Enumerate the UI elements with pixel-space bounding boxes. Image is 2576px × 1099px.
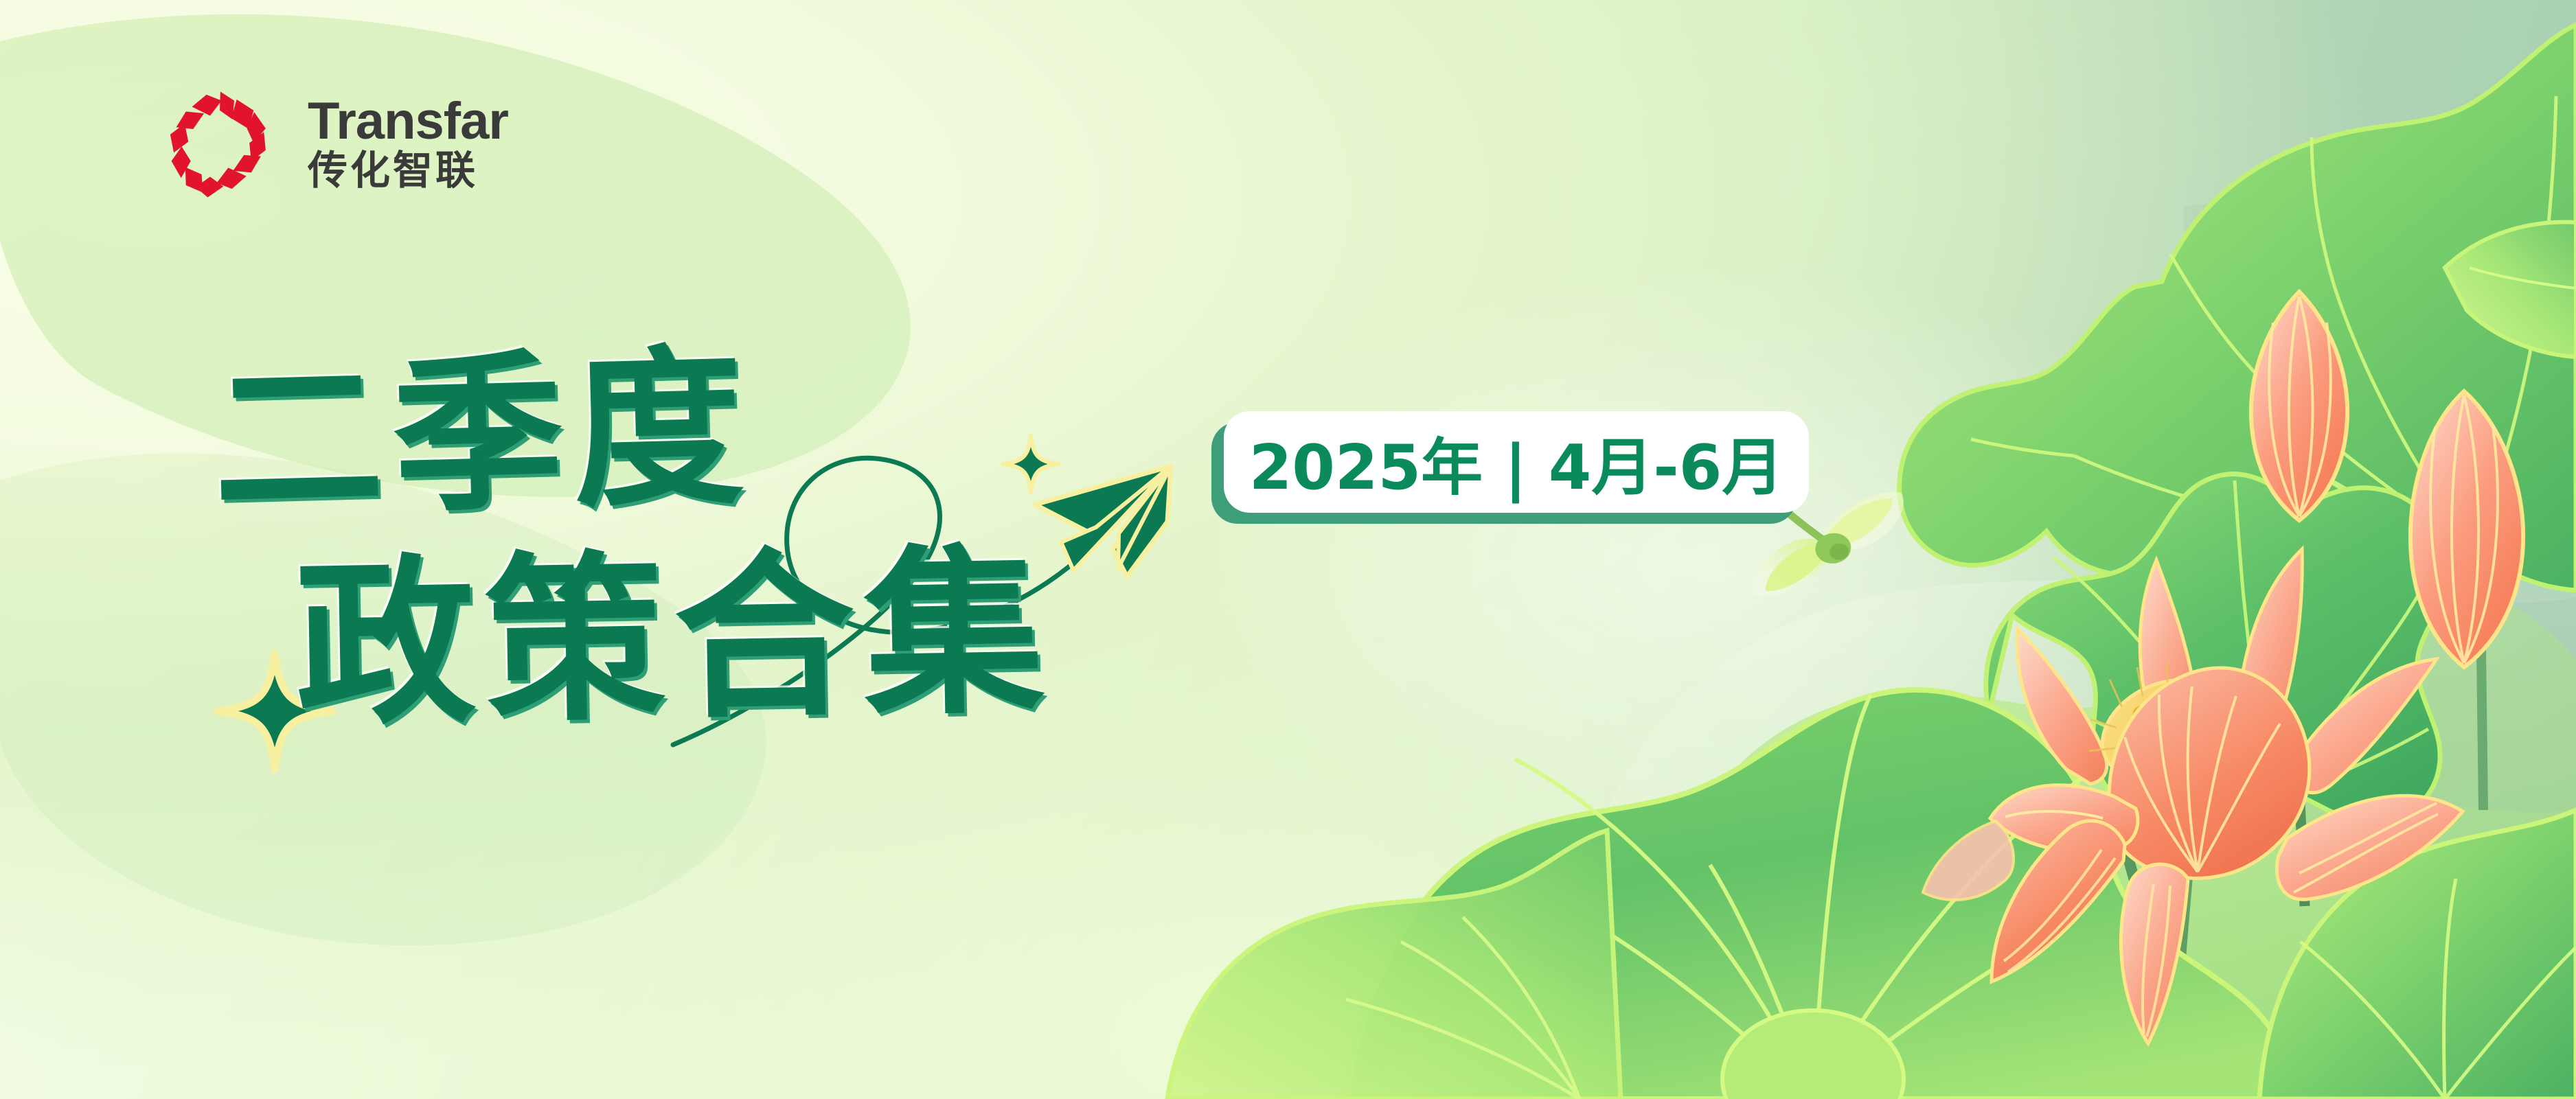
brand-name-cn: 传化智联 [308, 149, 508, 193]
brand-logo: Transfar 传化智联 [159, 84, 508, 205]
date-range-badge: 2025年 | 4月-6月 [1224, 411, 1809, 513]
date-badge-label: 2025年 | 4月-6月 [1249, 417, 1784, 507]
date-badge-face: 2025年 | 4月-6月 [1224, 411, 1809, 513]
promo-banner: Transfar 传化智联 二季度 政策合集 2025年 | 4月-6月 [0, 0, 2576, 1099]
headline-line-2: 政策合集 [294, 542, 1055, 735]
headline-line-1: 二季度 [211, 343, 755, 527]
headline-block: 二季度 政策合集 [206, 343, 1374, 892]
transfar-pinwheel-logo-icon [159, 84, 280, 205]
brand-name-en: Transfar [308, 95, 508, 148]
